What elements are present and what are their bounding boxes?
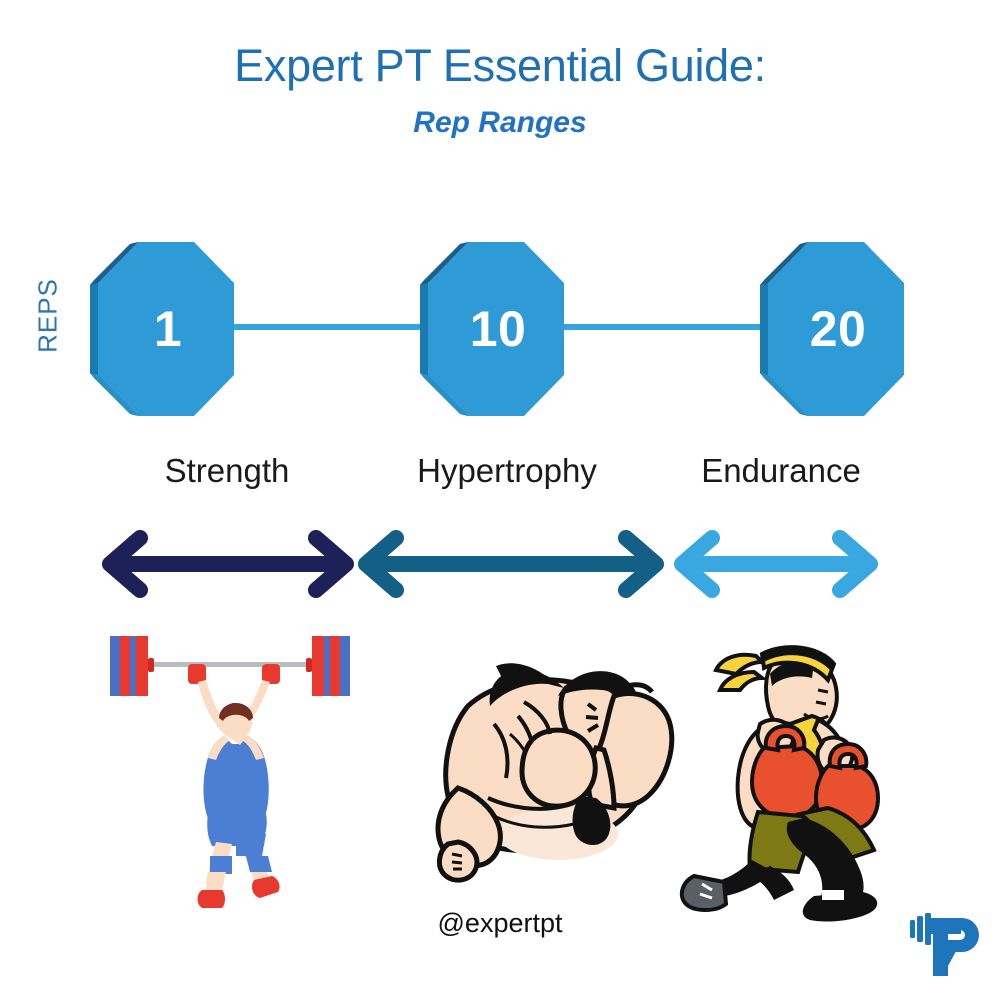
- rep-node-value: 10: [420, 240, 576, 418]
- infographic-canvas: Expert PT Essential Guide: Rep Ranges RE…: [0, 0, 1000, 1000]
- connector-line-10-to-20: [562, 324, 766, 330]
- page-title: Expert PT Essential Guide:: [0, 40, 1000, 92]
- hypertrophy-range-arrow: [366, 538, 656, 590]
- kettlebell-athlete-icon: [678, 628, 928, 923]
- rep-node-strength[interactable]: 1: [82, 240, 238, 418]
- weightlifter-illustration: [80, 618, 380, 918]
- rep-scale-row: 1 10 20: [0, 240, 1000, 420]
- kettlebell-athlete-illustration: [678, 628, 928, 923]
- bodybuilder-icon: [398, 638, 688, 903]
- connector-line-1-to-10: [232, 324, 438, 330]
- social-handle: @expertpt: [0, 908, 1000, 939]
- strength-range-arrow: [110, 538, 346, 590]
- rep-node-value: 20: [760, 240, 916, 418]
- category-label-hypertrophy: Hypertrophy: [357, 452, 657, 490]
- endurance-range-arrow: [682, 538, 870, 590]
- bodybuilder-illustration: [398, 638, 688, 903]
- weightlifter-icon: [80, 618, 380, 918]
- rep-node-hypertrophy[interactable]: 10: [412, 240, 568, 418]
- expert-pt-logo-icon: [906, 904, 984, 982]
- range-arrows-svg: [0, 528, 1000, 600]
- page-subtitle: Rep Ranges: [0, 106, 1000, 140]
- category-label-endurance: Endurance: [631, 452, 931, 490]
- expert-pt-logo[interactable]: [906, 904, 984, 982]
- rep-range-arrows: [0, 528, 1000, 600]
- rep-node-endurance[interactable]: 20: [752, 240, 908, 418]
- category-label-strength: Strength: [77, 452, 377, 490]
- rep-node-value: 1: [90, 240, 246, 418]
